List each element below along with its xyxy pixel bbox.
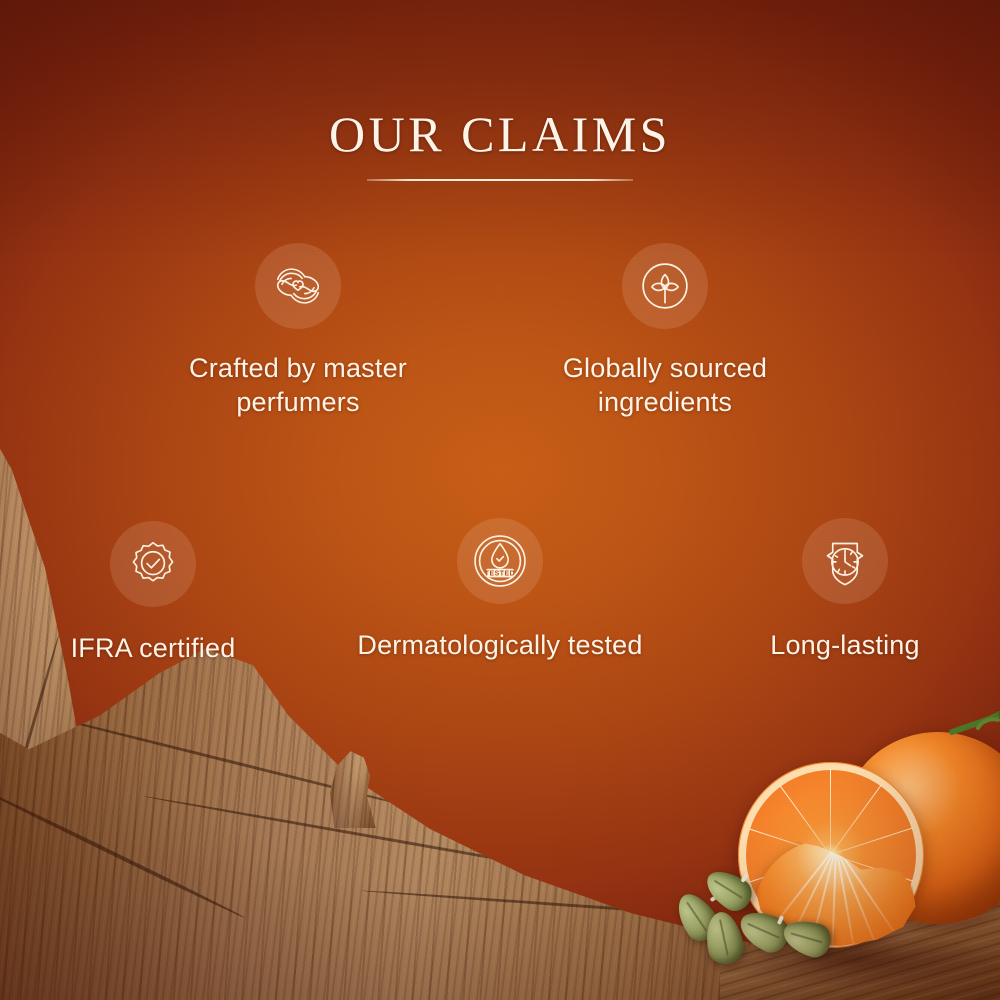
clock-shield-icon bbox=[817, 533, 873, 589]
claim-icon-circle: TESTED bbox=[457, 518, 543, 604]
claim-icon-circle bbox=[622, 243, 708, 329]
claim-long-lasting[interactable]: Long-lasting bbox=[695, 518, 995, 662]
badge-check-icon bbox=[126, 537, 180, 591]
claim-dermatologically-tested[interactable]: TESTED Dermatologically tested bbox=[350, 518, 650, 662]
claim-icon-circle bbox=[255, 243, 341, 329]
claim-label: Long-lasting bbox=[695, 628, 995, 662]
claim-icon-circle bbox=[802, 518, 888, 604]
tested-badge-text: TESTED bbox=[485, 570, 515, 577]
header: OUR CLAIMS bbox=[0, 108, 1000, 181]
claim-label: Globally sourced ingredients bbox=[515, 351, 815, 419]
claim-crafted-by-master-perfumers[interactable]: Crafted by master perfumers bbox=[148, 243, 448, 419]
claim-globally-sourced-ingredients[interactable]: Globally sourced ingredients bbox=[515, 243, 815, 419]
claim-label: Crafted by master perfumers bbox=[148, 351, 448, 419]
claim-ifra-certified[interactable]: IFRA certified bbox=[3, 521, 303, 665]
tested-droplet-seal-icon: TESTED bbox=[471, 532, 529, 590]
claim-icon-circle bbox=[110, 521, 196, 607]
title-underline bbox=[367, 179, 633, 181]
page-title: OUR CLAIMS bbox=[0, 108, 1000, 161]
claim-label: Dermatologically tested bbox=[350, 628, 650, 662]
claim-label: IFRA certified bbox=[3, 631, 303, 665]
promo-banner: OUR CLAIMS Crafted by master perfumers bbox=[0, 0, 1000, 1000]
leaf-in-circle-icon bbox=[637, 258, 693, 314]
hands-holding-heart-icon bbox=[271, 259, 325, 313]
